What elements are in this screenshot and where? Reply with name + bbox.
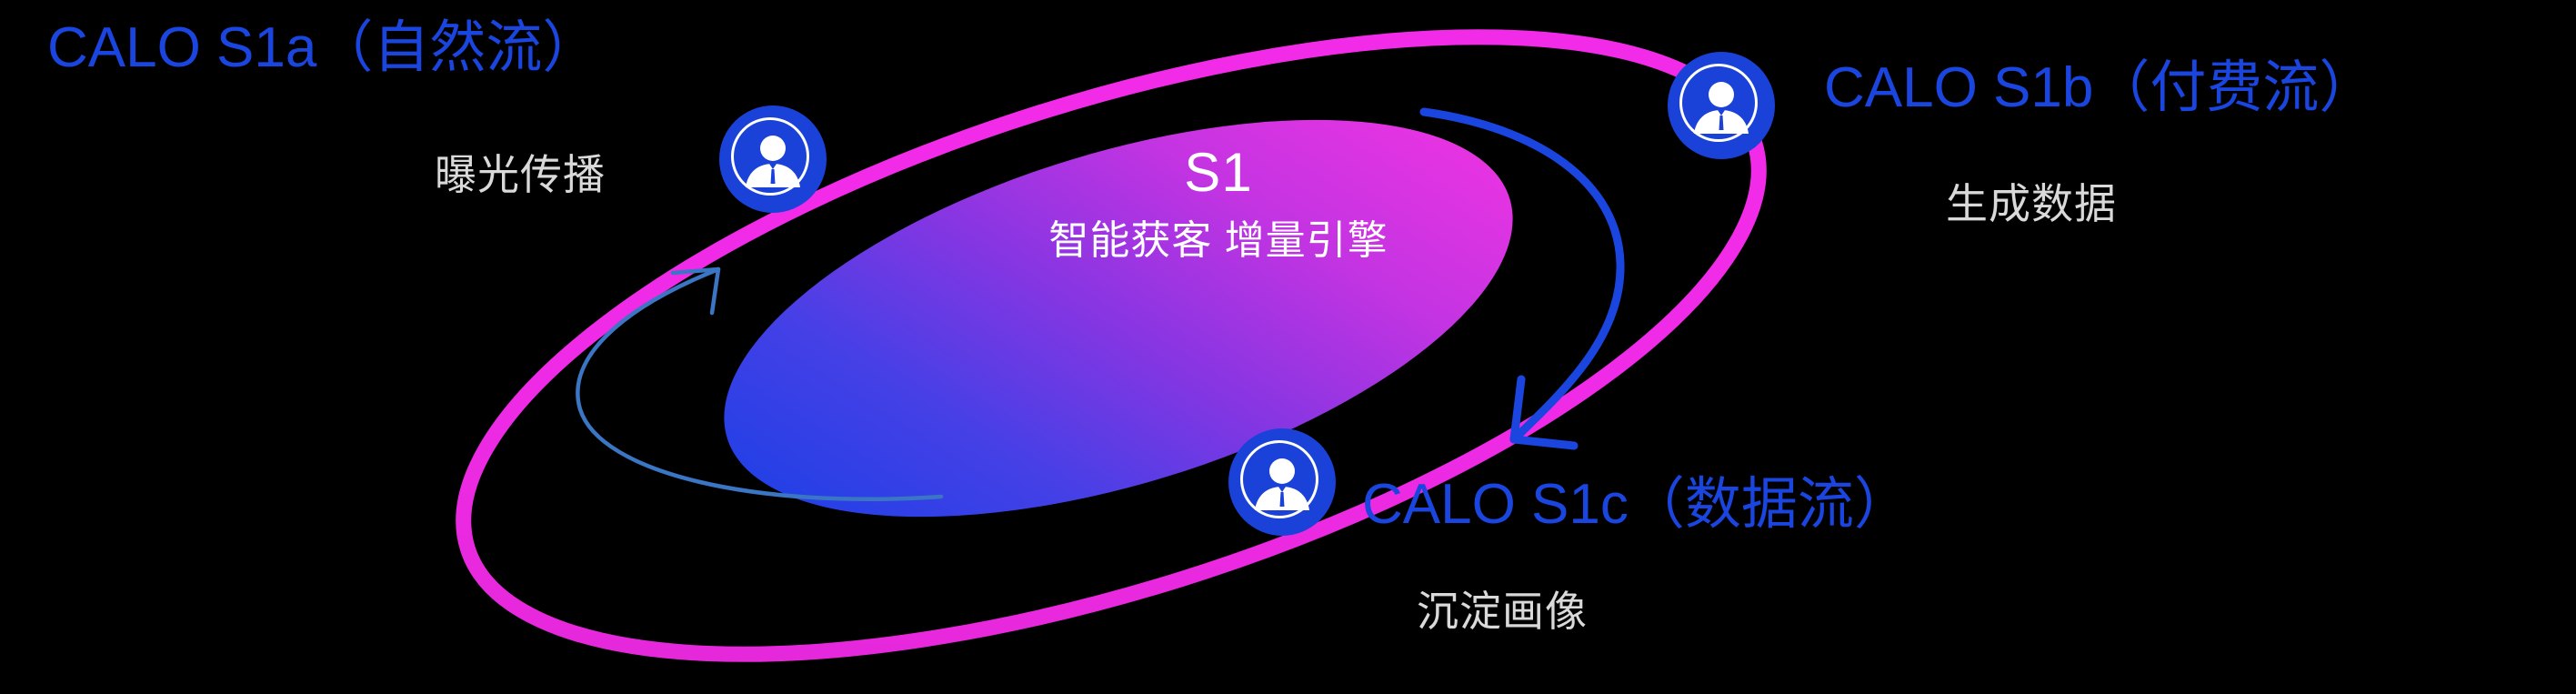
node-s1b-caption: 生成数据 bbox=[1946, 182, 2117, 226]
node-s1a-title: CALO S1a（自然流） bbox=[47, 18, 598, 77]
node-s1c[interactable] bbox=[1228, 428, 1336, 536]
person-icon bbox=[1692, 77, 1750, 134]
core-title: S1 bbox=[964, 141, 1473, 204]
core-label-group: S1 智能获客 增量引擎 bbox=[964, 141, 1473, 266]
node-s1c-caption: 沉淀画像 bbox=[1417, 589, 1588, 633]
node-s1b-title: CALO S1b（付费流） bbox=[1824, 58, 2375, 117]
node-s1a[interactable] bbox=[719, 106, 827, 213]
node-s1b[interactable] bbox=[1668, 52, 1775, 159]
person-icon bbox=[1253, 454, 1311, 510]
person-icon bbox=[744, 131, 802, 187]
core-subtitle: 智能获客 增量引擎 bbox=[964, 207, 1473, 266]
node-s1a-caption: 曝光传播 bbox=[435, 153, 606, 196]
node-s1c-title: CALO S1c（数据流） bbox=[1362, 475, 1910, 534]
diagram-canvas: S1 智能获客 增量引擎 CALO S1a（自然流） bbox=[0, 0, 2576, 694]
